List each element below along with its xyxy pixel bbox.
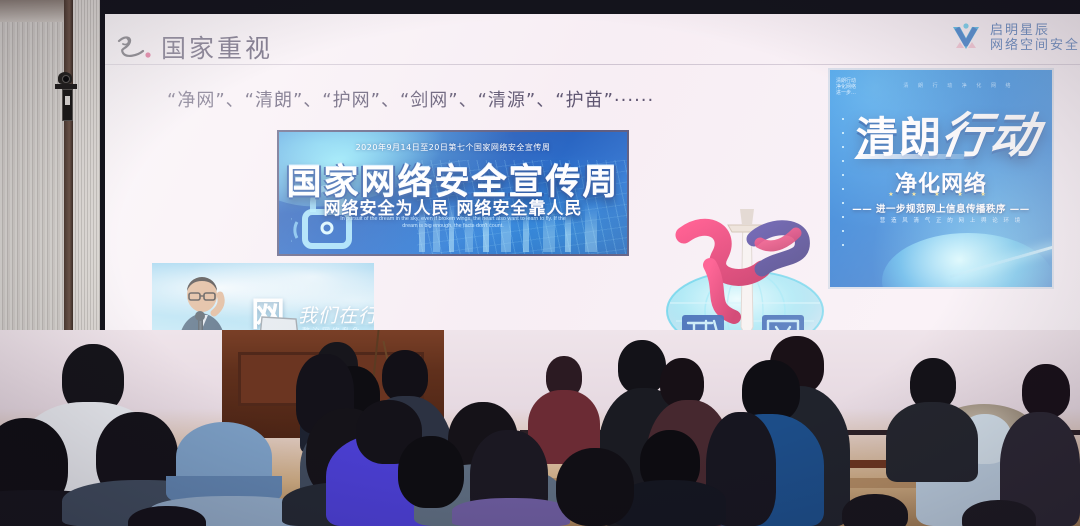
audience-head (382, 350, 428, 402)
audience-body (886, 402, 978, 482)
audience-head (842, 494, 908, 526)
poster-footnote: 营 造 风 清 气 正 的 网 上 舆 论 环 境 (866, 216, 1036, 224)
poster-stars: ★ ★ ★ ★ ★ (830, 191, 1052, 198)
poster-globe-graphic (882, 233, 1054, 289)
calligraphy-mark-logo (113, 32, 155, 64)
banner-english-text: In pursuit of the dream in the sky, even… (337, 216, 569, 230)
poster-top-line: 清 朗 行 动 净 化 网 络 (874, 82, 1044, 89)
audience-head (618, 340, 666, 394)
microphone-head-icon (195, 311, 205, 321)
poster-tagline: —— 进一步规范网上信息传播秩序 —— (830, 201, 1052, 215)
v-shape-logo-icon (949, 22, 983, 54)
audience-body (452, 498, 570, 526)
brand-line-2: 网络空间安全 (990, 38, 1080, 53)
camera-lens-icon (62, 75, 70, 83)
audience-head (556, 448, 634, 526)
qinglang-action-poster: 清朗行动 净化网络 进一步… 清 朗 行 动 净 化 网 络 清朗行动 净化网络… (828, 68, 1054, 289)
slide-bullet-text: “净网”、“清朗”、“护网”、“剑网”、“清源”、“护苗”······ (167, 86, 654, 112)
title-divider (105, 64, 1080, 65)
ceiling-soffit (0, 0, 66, 22)
wall-speaker-box (62, 89, 73, 121)
poster-accent-slash (854, 154, 976, 159)
audience-head (1022, 364, 1070, 418)
lecture-hall-foreground (0, 330, 1080, 526)
brand-text: 启明星辰 网络空间安全 (990, 23, 1080, 53)
video-slogan: 我们在行动 (298, 301, 374, 328)
brand-line-1: 启明星辰 (990, 23, 1080, 38)
audience-head (398, 436, 464, 508)
screenshot-root: 国家重视 启明星辰 网络空间安全 “净网”、“清朗”、“护网”、“剑网”、“清源… (0, 0, 1080, 526)
cybersecurity-week-banner: 2020年9月14日至20日第七个国家网络安全宣传周 国家网络安全宣传周 网络安… (277, 130, 629, 256)
poster-side-text: 清朗行动 净化网络 进一步… (836, 78, 856, 96)
page-title: 国家重视 (161, 29, 273, 65)
banner-date-line: 2020年9月14日至20日第七个国家网络安全宣传周 (279, 142, 627, 153)
brand-lockup: 启明星辰 网络空间安全 (949, 22, 1080, 54)
